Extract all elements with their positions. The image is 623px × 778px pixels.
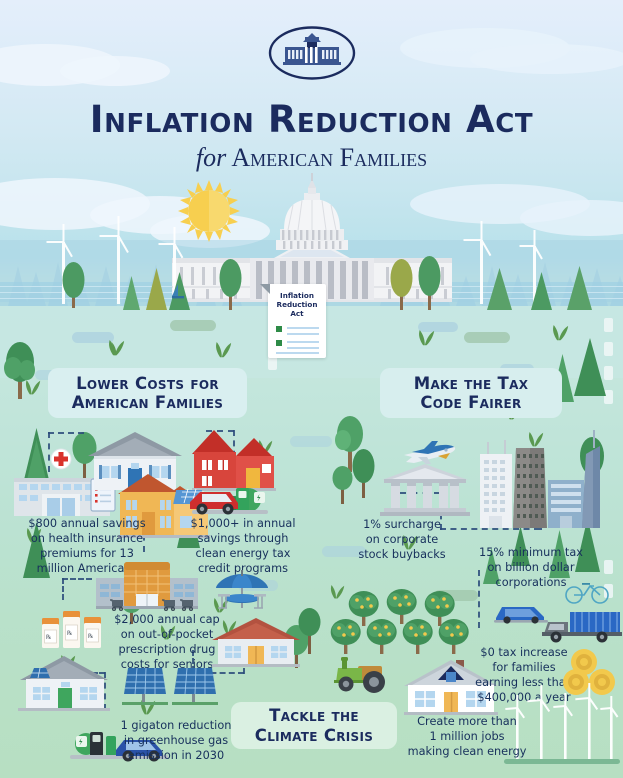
caption-line: savings through: [172, 531, 314, 546]
caption-line: $1,000+ in annual: [172, 516, 314, 531]
tree: [333, 466, 353, 504]
banner-tax-code-line1: Make the Tax: [414, 374, 529, 393]
grocery-store-icon: [96, 560, 198, 612]
caption-line: 1 gigaton reduction: [112, 718, 240, 733]
caption-line: on billion dollar: [464, 560, 598, 575]
caption-gigaton: 1 gigaton reduction in greenhouse gas em…: [112, 718, 240, 763]
banner-lower-costs-line1: Lower Costs for: [72, 374, 224, 393]
svg-text:℞: ℞: [67, 630, 72, 637]
solar-house-icon: [18, 652, 110, 712]
caption-line: 15% minimum tax: [464, 545, 598, 560]
caption-line: premiums for 13: [8, 546, 166, 561]
solar-panel-icon: [122, 660, 224, 710]
svg-text:℞: ℞: [46, 634, 51, 641]
caption-line: on corporate: [340, 532, 464, 547]
tree: [353, 449, 375, 498]
caption-line: 1% surcharge: [340, 517, 464, 532]
svg-text:℞: ℞: [88, 633, 93, 640]
banner-tax-code: Make the Tax Code Fairer: [380, 368, 562, 418]
caption-line: emission in 2030: [112, 748, 240, 763]
connector-line: [62, 578, 92, 580]
car-icon: [494, 598, 548, 624]
caption-line: stock buybacks: [340, 547, 464, 562]
caption-line: Create more than: [402, 714, 532, 729]
banner-lower-costs: Lower Costs for American Families: [48, 368, 247, 418]
banner-lower-costs-line2: American Families: [72, 393, 224, 412]
tractor-icon: [332, 652, 398, 696]
caption-line: $800 annual savings: [8, 516, 166, 531]
medical-cross-icon: [50, 448, 72, 470]
caption-line: on health insurance: [8, 531, 166, 546]
house-icon: [212, 616, 300, 668]
truck-icon: [542, 610, 622, 646]
tree: [4, 342, 35, 399]
connector-line: [48, 432, 84, 434]
skyline-icon: [460, 424, 600, 530]
caption-line: making clean energy: [402, 744, 532, 759]
tree: [574, 338, 606, 396]
orchard-icon: [340, 576, 480, 646]
caption-line: clean energy tax: [172, 546, 314, 561]
hay-bale-icon: [562, 648, 620, 696]
banner-climate: Tackle the Climate Crisis: [231, 702, 397, 749]
banner-climate-line1: Tackle the: [255, 706, 373, 725]
bank-icon: [380, 462, 470, 518]
bicycle-icon: [564, 578, 610, 604]
caption-line: in greenhouse gas: [112, 733, 240, 748]
caption-line: 1 million jobs: [402, 729, 532, 744]
banner-climate-line2: Climate Crisis: [255, 726, 373, 745]
connector-line: [62, 578, 64, 600]
banner-tax-code-line2: Code Fairer: [414, 393, 529, 412]
ev-charging-icon: [186, 472, 270, 518]
caption-stock-buybacks: 1% surcharge on corporate stock buybacks: [340, 517, 464, 562]
caption-clean-energy-jobs: Create more than 1 million jobs making c…: [402, 714, 532, 759]
patio-umbrella-icon: [212, 568, 272, 616]
infographic-poster: Inflation Reduction Act for American Fam…: [0, 0, 623, 778]
